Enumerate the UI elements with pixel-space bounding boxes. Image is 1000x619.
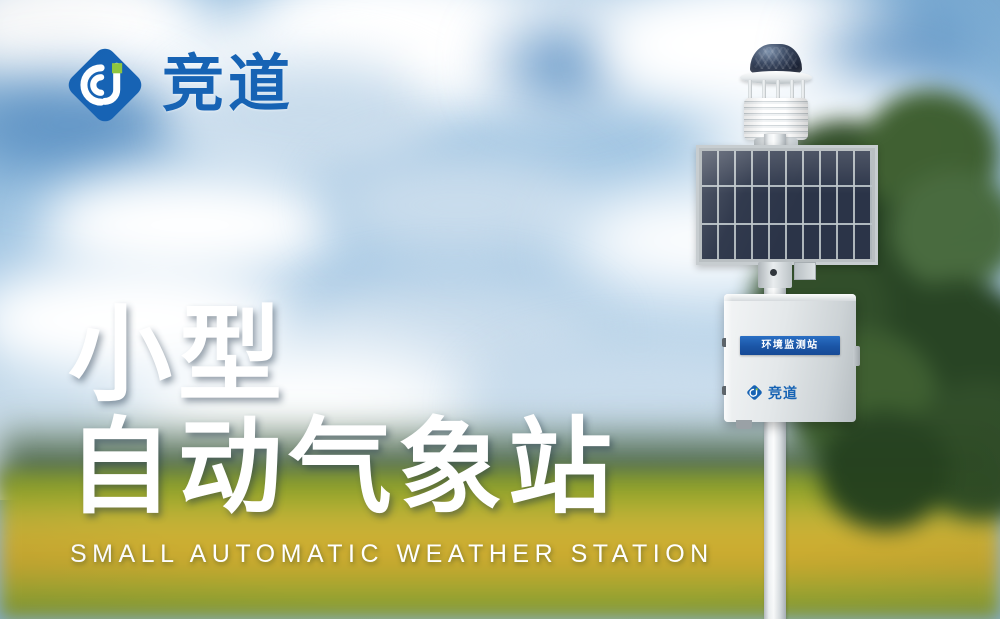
control-enclosure: 环境监测站 竞道 — [724, 294, 856, 422]
enclosure-banner-label: 环境监测站 — [762, 341, 819, 351]
brand-logo[interactable]: 竞道 — [66, 46, 294, 124]
jingdao-diamond-logo-icon — [66, 46, 144, 124]
subtitle: SMALL AUTOMATIC WEATHER STATION — [70, 540, 714, 569]
solar-panel-icon — [696, 145, 878, 265]
panel-mount-bolt — [770, 269, 777, 276]
jingdao-diamond-logo-icon — [746, 384, 763, 401]
brand-name: 竞道 — [162, 54, 294, 116]
enclosure-brand-logo: 竞道 — [746, 384, 798, 401]
weather-station-product: 环境监测站 竞道 — [690, 30, 890, 619]
banner-stage: 环境监测站 竞道 — [0, 0, 1000, 619]
enclosure-brand-name: 竞道 — [768, 386, 798, 400]
enclosure-latch — [853, 346, 860, 366]
panel-arm-plate — [794, 262, 816, 280]
ultrasonic-weather-sensor-icon — [750, 44, 802, 74]
headline-line-1: 小型 — [68, 300, 618, 412]
cable-port — [722, 338, 726, 347]
headline-line-2: 自动气象站 — [68, 412, 618, 524]
enclosure-bottom-gland — [736, 420, 752, 429]
headline-block: 小型 自动气象站 — [68, 300, 618, 525]
enclosure-banner: 环境监测站 — [740, 336, 840, 355]
cable-port — [722, 386, 726, 395]
